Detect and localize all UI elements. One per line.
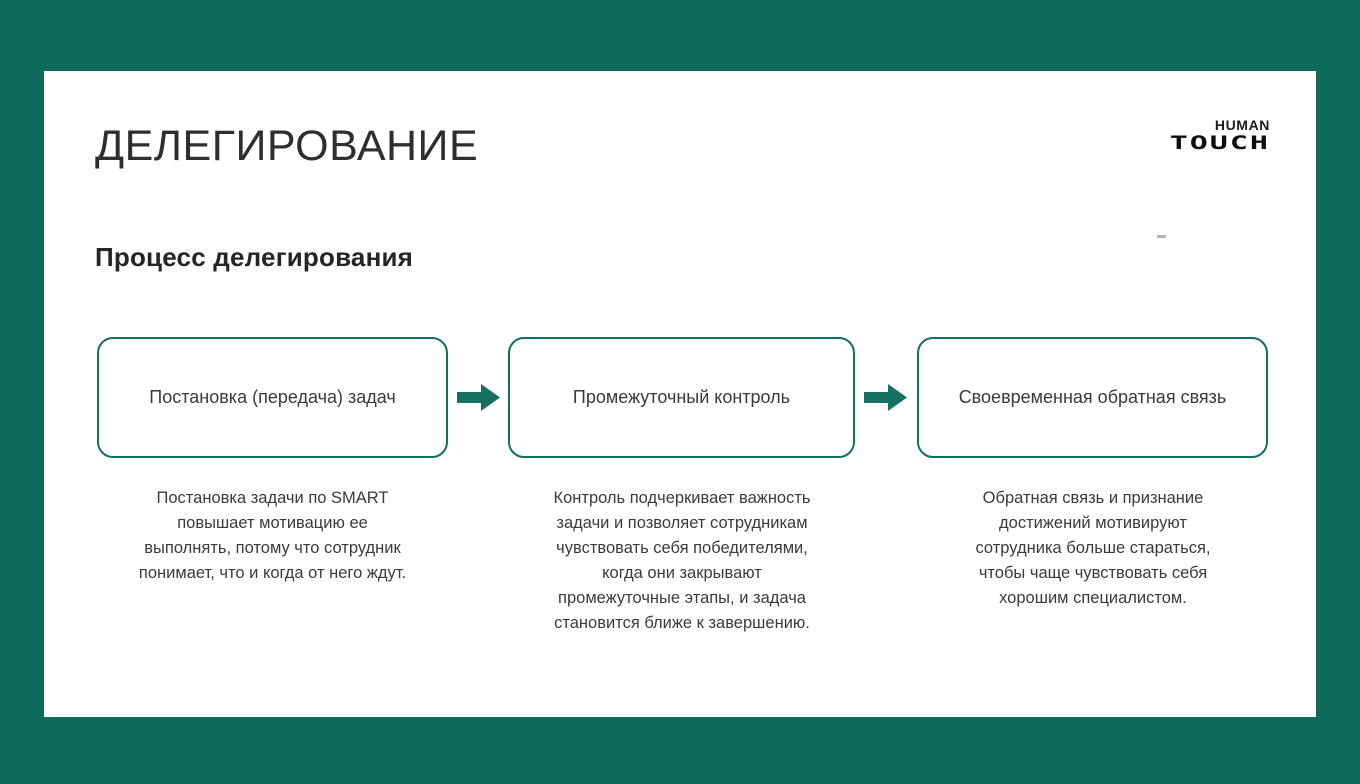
flow-step-label-1: Постановка (передача) задач [149,384,395,412]
caption-line: сотрудника больше стараться, [899,536,1287,561]
caption-line: Контроль подчеркивает важность [487,486,877,511]
page-title: ДЕЛЕГИРОВАНИЕ [95,125,478,168]
caption-line: когда они закрывают [487,561,877,586]
section-heading: Процесс делегирования [95,244,413,270]
arrow-right-icon [864,384,907,411]
slide-card: ДЕЛЕГИРОВАНИЕ HUMAN TOUCH Процесс делеги… [44,71,1316,717]
stray-dash-mark [1157,235,1166,238]
flow-step-box-2[interactable]: Промежуточный контроль [508,337,855,458]
brand-logo-touch-text: TOUCH [1170,134,1270,153]
flow-step-caption-1: Постановка задачи по SMARTповышает мотив… [80,486,465,586]
caption-line: чувствовать себя победителями, [487,536,877,561]
flow-step-label-3: Своевременная обратная связь [959,384,1227,412]
arrow-right-icon [457,384,500,411]
process-flow-row: Постановка (передача) задач Промежуточны… [44,337,1316,458]
caption-line: хорошим специалистом. [899,586,1287,611]
flow-step-caption-3: Обратная связь и признаниедостижений мот… [899,486,1287,611]
caption-line: выполнять, потому что сотрудник [80,536,465,561]
caption-line: становится ближе к завершению. [487,611,877,636]
flow-step-box-1[interactable]: Постановка (передача) задач [97,337,448,458]
caption-line: понимает, что и когда от него ждут. [80,561,465,586]
brand-logo: HUMAN TOUCH [1100,118,1270,164]
slide-background: ДЕЛЕГИРОВАНИЕ HUMAN TOUCH Процесс делеги… [0,0,1360,784]
flow-step-box-3[interactable]: Своевременная обратная связь [917,337,1268,458]
caption-line: промежуточные этапы, и задача [487,586,877,611]
caption-line: задачи и позволяет сотрудникам [487,511,877,536]
flow-step-label-2: Промежуточный контроль [573,384,790,412]
caption-line: Обратная связь и признание [899,486,1287,511]
caption-line: достижений мотивируют [899,511,1287,536]
caption-line: чтобы чаще чувствовать себя [899,561,1287,586]
caption-line: Постановка задачи по SMART [80,486,465,511]
caption-line: повышает мотивацию ее [80,511,465,536]
brand-logo-human-text: HUMAN [1215,118,1270,132]
flow-step-caption-2: Контроль подчеркивает важностьзадачи и п… [487,486,877,636]
